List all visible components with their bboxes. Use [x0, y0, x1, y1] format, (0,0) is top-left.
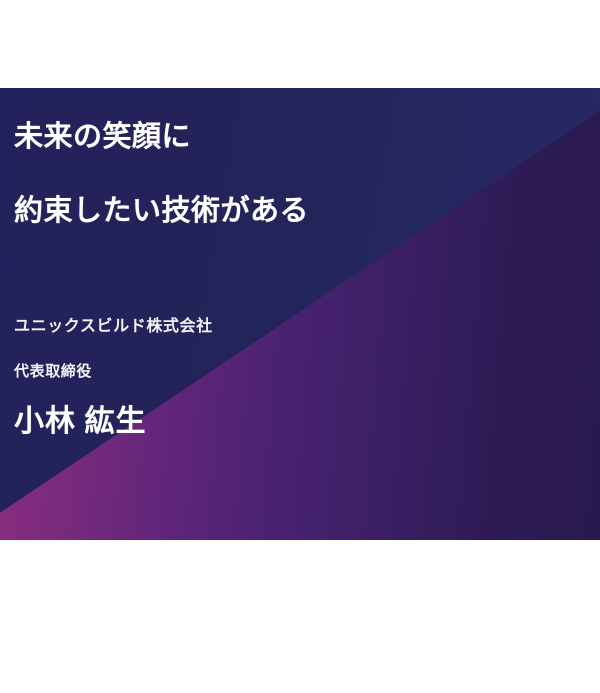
person-name: 小林 紘生: [14, 396, 147, 440]
company-name: ユニックスビルド株式会社: [14, 312, 213, 336]
headline-line-2: 約束したい技術がある: [14, 196, 309, 228]
hero-text-content: 未来の笑顔に 約束したい技術がある ユニックスビルド株式会社 代表取締役 小林 …: [0, 88, 600, 540]
bottom-white-margin: [0, 540, 600, 693]
person-role: 代表取締役: [14, 360, 92, 381]
slide-page: 未来の笑顔に 約束したい技術がある ユニックスビルド株式会社 代表取締役 小林 …: [0, 0, 600, 693]
hero-banner: 未来の笑顔に 約束したい技術がある ユニックスビルド株式会社 代表取締役 小林 …: [0, 88, 600, 540]
top-white-margin: [0, 0, 600, 88]
headline-line-1: 未来の笑顔に: [14, 122, 191, 154]
